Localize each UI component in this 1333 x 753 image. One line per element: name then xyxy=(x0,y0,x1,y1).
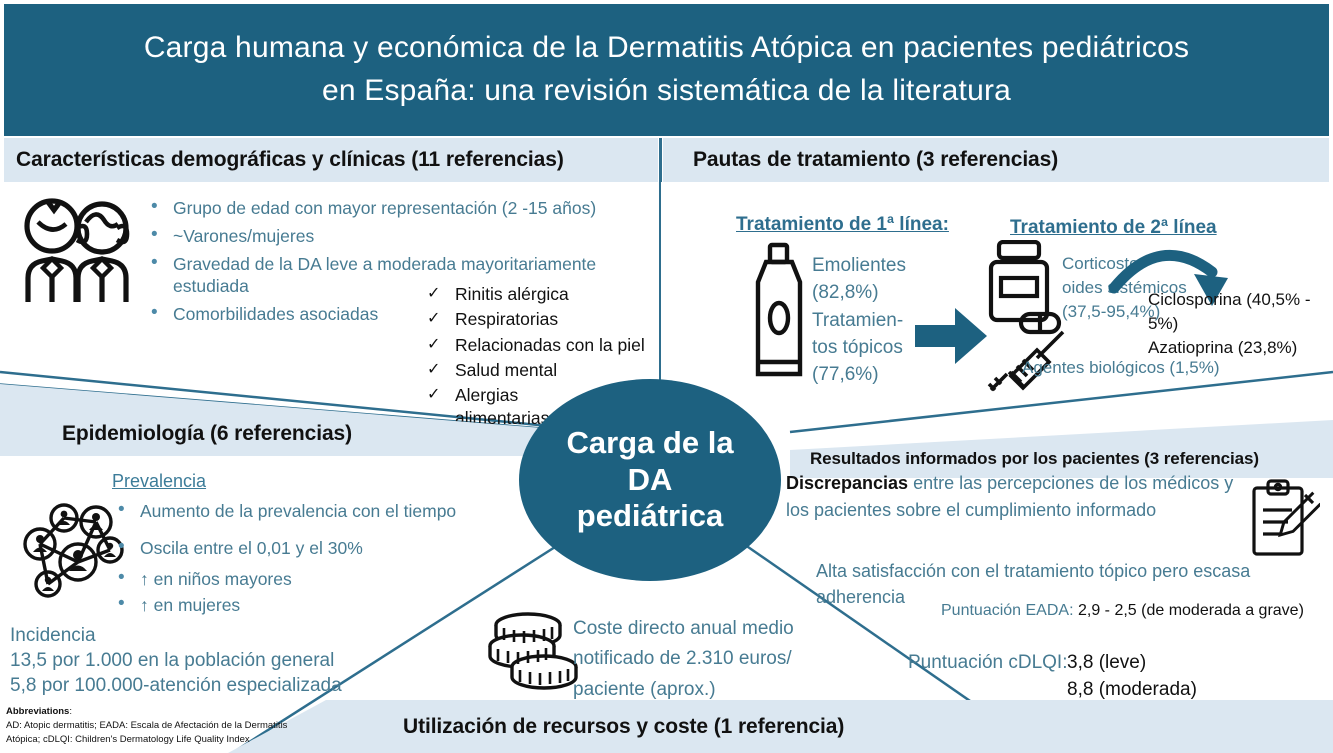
heading-epidemiology: Epidemiología (6 referencias) xyxy=(62,422,352,446)
cdlqi-value: 3,8 (leve) xyxy=(1067,650,1251,677)
list-item: Aumento de la prevalencia con el tiempo xyxy=(112,500,512,523)
cdlqi-value: 8,8 (moderada) xyxy=(1067,677,1251,704)
right-arrow-icon xyxy=(915,308,987,364)
treatment-item: tos tópicos xyxy=(812,334,922,361)
discrepancy-keyword: Discrepancias xyxy=(786,473,908,493)
heading-demographics: Características demográficas y clínicas … xyxy=(16,148,564,172)
treatment-item: Emolientes xyxy=(812,252,922,279)
section-banner-cost: Utilización de recursos y coste (1 refer… xyxy=(228,700,1333,753)
treatment-item: Tratamien- xyxy=(812,307,922,334)
satisfaction-line-1: Alta satisfacción con el tratamiento tóp… xyxy=(816,558,1296,584)
center-line-2: DA xyxy=(628,462,673,499)
section-banner-demographics: Características demográficas y clínicas … xyxy=(4,138,658,182)
treatment-item: (82,8%) xyxy=(812,279,922,306)
first-line-treatment-label: Tratamiento de 1ª línea: xyxy=(736,212,949,237)
incidence-line-1: 13,5 por 1.000 en la población general xyxy=(10,648,334,673)
treatment-item: Ciclosporina (40,5% - 5%) xyxy=(1148,288,1333,336)
list-item: Rinitis alérgica xyxy=(425,283,675,306)
cost-line: paciente (aprox.) xyxy=(573,675,823,705)
eada-label: Puntuación EADA: xyxy=(941,602,1074,619)
cream-tube-icon xyxy=(748,242,810,380)
heading-treatment: Pautas de tratamiento (3 referencias) xyxy=(693,148,1058,172)
pro-discrepancy-text: Discrepancias entre las percepciones de … xyxy=(786,470,1256,524)
abbreviations-footnote: Abbreviations: AD: Atopic dermatitis; EA… xyxy=(6,705,287,746)
incidence-label: Incidencia xyxy=(10,623,96,648)
heading-pro: Resultados informados por los pacientes … xyxy=(810,449,1259,469)
first-line-treatment-items: Emolientes (82,8%) Tratamien- tos tópico… xyxy=(812,252,922,389)
list-item: ↑ en niños mayores xyxy=(112,568,512,591)
treatment-item: Azatioprina (23,8%) xyxy=(1148,336,1333,360)
cost-text: Coste directo anual medio notificado de … xyxy=(573,614,823,705)
title-line-1: Carga humana y económica de la Dermatiti… xyxy=(144,27,1189,70)
center-line-3: pediátrica xyxy=(577,498,723,535)
prevalence-label: Prevalencia xyxy=(112,470,206,494)
abbreviations-line-2: Atópica; cDLQI: Children's Dermatology L… xyxy=(6,733,287,747)
second-line-treatment-label: Tratamiento de 2ª línea xyxy=(1010,215,1217,240)
list-item: Relacionadas con la piel xyxy=(425,334,675,357)
eada-value: 2,9 - 2,5 (de moderada a grave) xyxy=(1078,602,1304,619)
list-item: ↑ en mujeres xyxy=(112,594,512,617)
list-item: Grupo de edad con mayor representación (… xyxy=(145,197,650,220)
section-banner-treatment: Pautas de tratamiento (3 referencias) xyxy=(663,138,1329,182)
infographic-poster: Carga humana y económica de la Dermatiti… xyxy=(0,0,1333,753)
cost-line: Coste directo anual medio xyxy=(573,614,823,644)
treatment-item: (77,6%) xyxy=(812,361,922,388)
center-line-1: Carga de la xyxy=(566,425,733,462)
coins-icon xyxy=(488,612,580,690)
central-topic-oval: Carga de la DA pediátrica xyxy=(519,379,781,581)
people-network-icon xyxy=(18,500,126,604)
clipboard-pencil-icon xyxy=(1248,478,1320,558)
abbreviations-label: Abbreviations xyxy=(6,706,69,717)
eada-score-row: Puntuación EADA: 2,9 - 2,5 (de moderada … xyxy=(941,600,1304,621)
list-item: ~Varones/mujeres xyxy=(145,225,650,248)
epidemiology-bullet-list: Aumento de la prevalencia con el tiempo … xyxy=(112,500,512,622)
title-line-2: en España: una revisión sistemática de l… xyxy=(322,70,1011,113)
discrepancy-line-2: los pacientes sobre el cumplimiento info… xyxy=(786,500,1156,520)
cdlqi-label: Puntuación cDLQI: xyxy=(908,650,1067,675)
poster-title-band: Carga humana y económica de la Dermatiti… xyxy=(4,4,1329,136)
biologic-agents-text: Agentes biológicos (1,5%) xyxy=(1022,357,1220,379)
third-line-treatment-items: Ciclosporina (40,5% - 5%) Azatioprina (2… xyxy=(1148,288,1333,359)
list-item: Respiratorias xyxy=(425,308,675,331)
abbreviations-line-1: AD: Atopic dermatitis; EADA: Escala de A… xyxy=(6,719,287,733)
list-item: Oscila entre el 0,01 y el 30% xyxy=(112,537,512,560)
heading-cost: Utilización de recursos y coste (1 refer… xyxy=(403,715,844,739)
discrepancy-rest: entre las percepciones de los médicos y xyxy=(908,473,1233,493)
two-children-icon xyxy=(18,192,136,304)
top-sections-divider xyxy=(659,138,662,182)
incidence-line-2: 5,8 por 100.000-atención especializada xyxy=(10,673,342,698)
cost-line: notificado de 2.310 euros/ xyxy=(573,644,823,674)
